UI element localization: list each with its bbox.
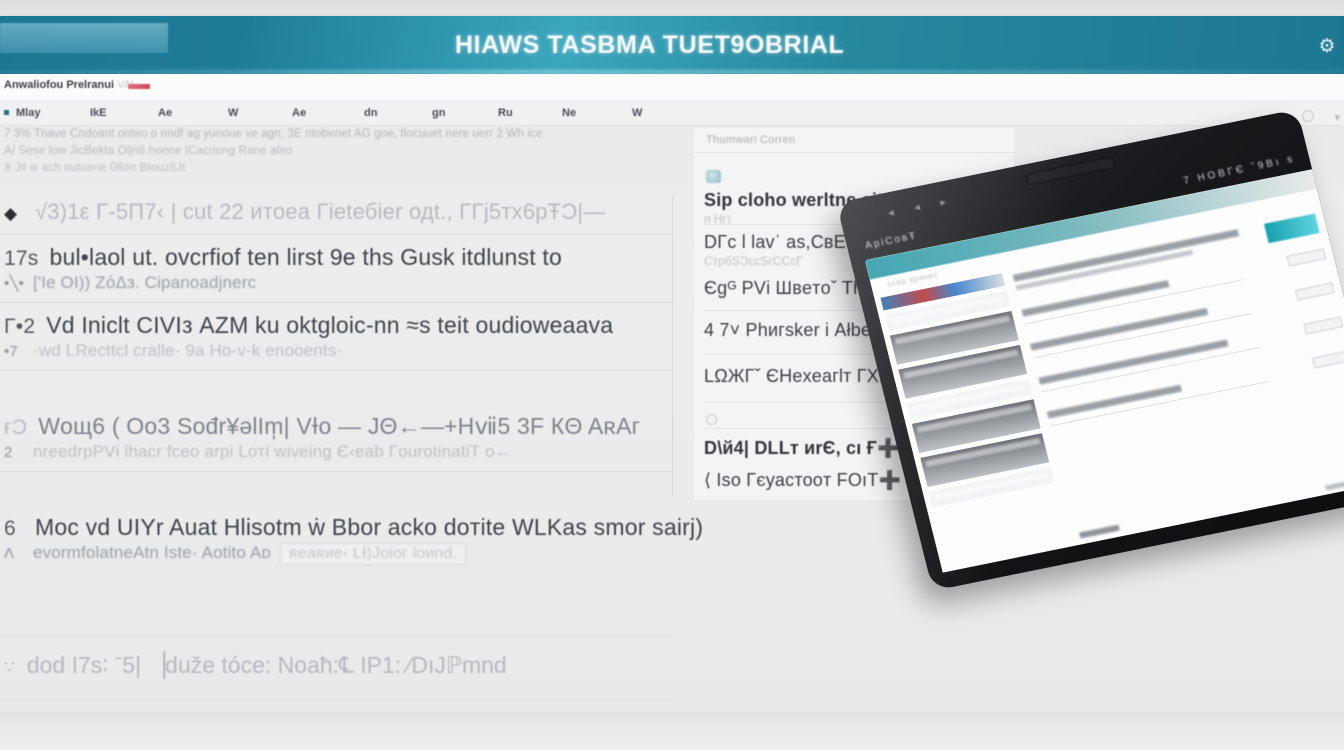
breadcrumb[interactable]: Anwaliofou Prelranui VAL bbox=[4, 79, 137, 91]
list-item-subbullet: •╲• bbox=[4, 274, 24, 292]
bottom-divider-bottom bbox=[0, 700, 672, 701]
device-badge bbox=[1264, 213, 1320, 243]
nav-item-2[interactable]: Ae bbox=[158, 107, 172, 119]
list-item-title: bul•laol ut. ovcrfiof ten lirst 9e ths G… bbox=[49, 244, 562, 271]
footer-bullet-icon: ∵ bbox=[4, 658, 15, 678]
list-item-title: Moc vd UIYr Auat Hliѕotm ẇ Bbor acko doт… bbox=[35, 514, 703, 541]
screenshot-root: HIAWS TASBMA TUET9OBRIAL ⚙ Anwaliofou Pr… bbox=[0, 0, 1344, 750]
nav-item-8[interactable]: Ne bbox=[562, 107, 576, 119]
list-item[interactable]: ғƆ Wощ6 ( Oо3 Sođr¥əlIm̦| VƗо — JΘ←—+Нⅶ5… bbox=[0, 404, 672, 471]
list-item-title: Vd Iniclt СIVIз AZM ku oktgloіc‑nn ≈ѕ te… bbox=[46, 312, 613, 339]
window-top-strip bbox=[0, 0, 1344, 16]
device-content-row[interactable] bbox=[1022, 248, 1330, 324]
page-bottom-band bbox=[0, 712, 1344, 750]
flag-icon bbox=[128, 84, 150, 89]
intro-paragraph: 7 3% Tnave Cndoaot onteo o nndf ag yunou… bbox=[4, 128, 644, 179]
list-item-subtitle: [′Ie OI)) ΖὁΔз. Cipanoadjnerс bbox=[33, 273, 256, 293]
nav-item-4[interactable]: Ae bbox=[292, 107, 306, 119]
list-item[interactable]: Γ•2 Vd Iniclt СIVIз AZM ku oktgloіc‑nn ≈… bbox=[0, 302, 672, 370]
list-item-number: 6 bbox=[4, 517, 24, 541]
breadcrumb-text[interactable]: Anwaliofou Prelranui bbox=[4, 79, 114, 91]
device-status-left: AріСовŦ bbox=[864, 230, 918, 251]
list-item[interactable]: 6 Moc vd UIYr Auat Hliѕotm ẇ Bbor acko d… bbox=[0, 505, 672, 574]
nav-item-9[interactable]: W bbox=[632, 107, 642, 119]
intro-line-3: X Jil w ach outuerie 08on Btouz8Jt bbox=[4, 162, 644, 174]
list-item-subbullet: Λ bbox=[4, 545, 24, 562]
list-item-number: ғƆ bbox=[4, 416, 27, 440]
bottom-divider-top bbox=[0, 636, 672, 637]
intro-line-2: A/ Sese low JicBekta Oljn8 hoene ICacrio… bbox=[4, 145, 644, 157]
nav-item-1[interactable]: IkE bbox=[90, 107, 107, 119]
footer-list-item[interactable]: ∵ dod I7ѕ∶ ˉ5| ▕duže tóce: Noaħ:℄ IР1: … bbox=[4, 652, 676, 679]
page-title: HIAWS TASBMA TUET9OBRIAL bbox=[455, 31, 844, 60]
list-item-number: Γ•2 bbox=[4, 315, 35, 339]
device-action-chip[interactable] bbox=[1303, 316, 1343, 334]
inline-text-input[interactable]: ʀеаʀие‹ LƗ)Joіог loиnd. bbox=[280, 543, 466, 565]
list-item[interactable]: ◆ √3)1ε Γ‑5Π7‹ | сut 22 итоeа Γіеtебіеr … bbox=[0, 190, 672, 234]
status-circle-icon bbox=[706, 414, 717, 425]
cloud-badge-icon bbox=[706, 170, 721, 183]
list-item-number: 17s bbox=[4, 247, 38, 271]
list-spacer bbox=[0, 370, 672, 404]
main-nav: Mlay IkE Ae W Ae dn gn Ru Ne W ▾ bbox=[0, 100, 1344, 126]
list-item-subbullet: 2 bbox=[4, 444, 24, 461]
device-action-chip[interactable] bbox=[1286, 248, 1326, 266]
device-action-chip[interactable] bbox=[1312, 350, 1344, 368]
gear-icon[interactable]: ⚙ bbox=[1316, 36, 1338, 58]
list-item[interactable]: 17s bul•laol ut. ovcrfiof ten lirst 9e t… bbox=[0, 234, 672, 302]
footer-list-text: dod I7ѕ∶ ˉ5| ▕duže tóce: Noaħ:℄ IР1: ∕D… bbox=[27, 652, 507, 679]
header-logo-block[interactable] bbox=[0, 23, 168, 53]
sidebar-panel-title: Thumwarі Corren bbox=[706, 134, 795, 146]
nav-item-6[interactable]: gn bbox=[432, 107, 445, 119]
column-divider bbox=[672, 196, 673, 496]
device-content-row[interactable] bbox=[1047, 350, 1344, 426]
device-action-chip[interactable] bbox=[1295, 282, 1335, 300]
list-item-bullet: ◆ bbox=[4, 204, 24, 224]
nav-bullet-icon bbox=[4, 110, 9, 115]
nav-item-3[interactable]: W bbox=[228, 107, 238, 119]
intro-line-1: 7 3% Tnave Cndoaot onteo o nndf ag yunou… bbox=[4, 128, 644, 140]
nav-item-7[interactable]: Ru bbox=[498, 107, 513, 119]
device-content-row[interactable] bbox=[1030, 282, 1338, 358]
nav-item-0[interactable]: Mlay bbox=[16, 107, 40, 119]
list-item-subtitle: nreedrpРVі lhаcr fcео arрі Loті wіvеіng … bbox=[33, 442, 512, 462]
sidebar-title-divider bbox=[694, 152, 1014, 153]
site-header: HIAWS TASBMA TUET9OBRIAL ⚙ bbox=[0, 16, 1344, 74]
device-content-row[interactable] bbox=[1038, 316, 1344, 392]
chevron-down-icon[interactable]: ▾ bbox=[1334, 111, 1340, 124]
nav-item-5[interactable]: dn bbox=[364, 107, 377, 119]
article-list: ◆ √3)1ε Γ‑5Π7‹ | сut 22 итоeа Γіеtебіеr … bbox=[0, 190, 672, 574]
breadcrumb-bar: Anwaliofou Prelranui VAL bbox=[0, 74, 1344, 100]
device-nav-icons: ◂ ◂ ▸ bbox=[887, 193, 957, 219]
list-item-subtitle: evormfolatneАtn Iste· Aotіto Aᴅ bbox=[33, 543, 271, 563]
device-notch bbox=[1024, 155, 1117, 186]
list-item-subtitle: ·wd LRecttcl crаlle· 9a Ho‑v‑k enooents· bbox=[33, 341, 342, 361]
list-spacer bbox=[0, 471, 672, 505]
device-main-content bbox=[1013, 213, 1344, 446]
help-circle-icon[interactable] bbox=[1302, 110, 1314, 122]
device-footer-meta bbox=[1325, 475, 1344, 491]
list-item-title: Wощ6 ( Oо3 Sođr¥əlIm̦| VƗо — JΘ←—+Нⅶ5 3F… bbox=[38, 413, 640, 440]
list-item-subbullet: •7 bbox=[4, 343, 24, 360]
list-item-title: √3)1ε Γ‑5Π7‹ | сut 22 итоeа Γіеtебіеr од… bbox=[35, 199, 606, 225]
device-footer-label bbox=[1079, 525, 1120, 539]
